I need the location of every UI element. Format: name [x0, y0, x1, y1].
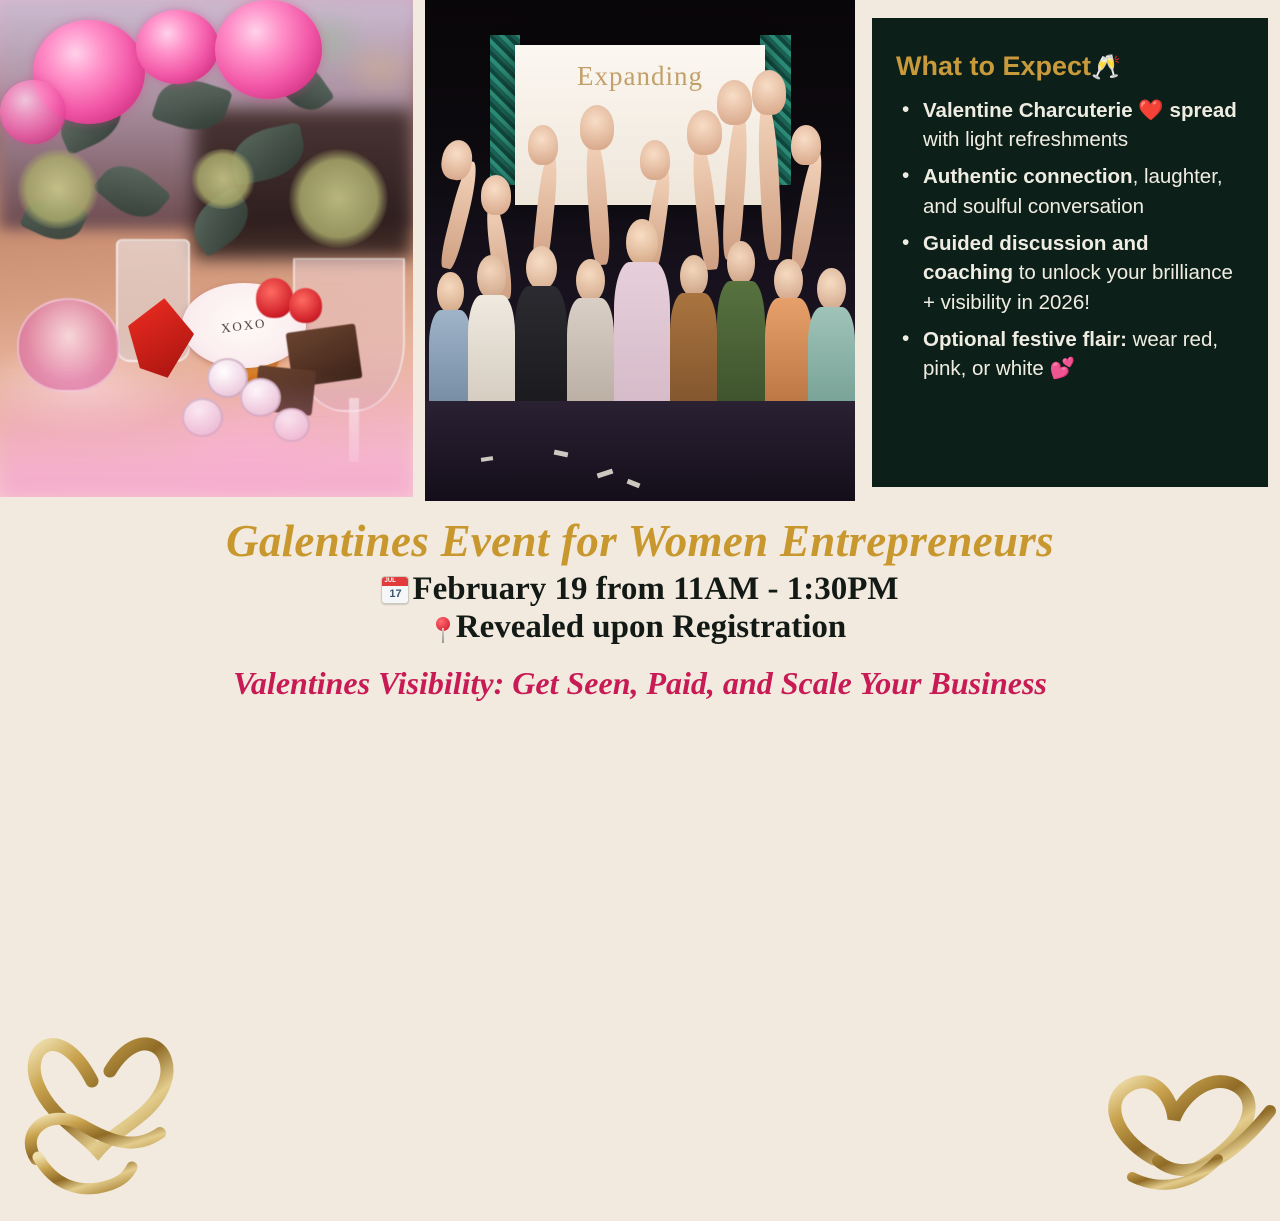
raised-hand [481, 175, 511, 215]
attendee-head [817, 268, 845, 310]
attendee-head [727, 241, 755, 285]
ribbon-heart-loop [1115, 1082, 1249, 1169]
list-item: Authentic connection, laughter, and soul… [896, 162, 1242, 221]
attendee-head [526, 246, 557, 290]
xoxo-plate-text: XOXO [220, 315, 267, 336]
raised-hand [752, 70, 786, 115]
stage-banner-text: Expanding [577, 61, 703, 92]
list-item-rest: with light refreshments [923, 128, 1128, 151]
ribbon-tail [1132, 1159, 1218, 1185]
seeded-sprig [17, 149, 100, 229]
gold-ribbon-heart-right [1092, 1041, 1280, 1221]
stage-floor [425, 401, 855, 501]
tagline: Valentines Visibility: Get Seen, Paid, a… [0, 665, 1280, 702]
ribbon-swirl [1158, 1111, 1270, 1170]
attendee-head [774, 259, 802, 302]
footer-block: Galentines Event for Women Entrepreneurs… [0, 501, 1280, 720]
event-location-text: Revealed upon Registration [456, 609, 847, 645]
strawberry [256, 278, 293, 318]
seeded-sprig [190, 149, 256, 209]
expectations-list: Valentine Charcuterie ❤️ spread with lig… [896, 96, 1242, 384]
list-item: Guided discussion and coaching to unlock… [896, 229, 1242, 318]
photo-group-celebration: Expanding [425, 0, 855, 501]
pink-rose [136, 10, 219, 85]
champagne-glasses-icon: 🥂 [1091, 54, 1121, 81]
pin-icon [434, 617, 452, 643]
calendar-month: JUL [382, 577, 408, 586]
pin-icon-needle [442, 628, 444, 643]
ribbon-heart-loop [34, 1044, 167, 1151]
attendee-head [576, 259, 604, 302]
event-date-line: JUL 17 February 19 from 11AM - 1:30PM [0, 571, 1280, 608]
raised-hand [580, 105, 614, 150]
strawberry [289, 288, 322, 323]
gold-ribbon-heart-left [14, 1009, 204, 1209]
pink-rose [0, 80, 66, 145]
photo-foreground-blur [0, 378, 413, 497]
panel-title: What to Expect🥂 [896, 52, 1242, 82]
pink-rose [215, 0, 322, 99]
list-item-bold: Authentic connection [923, 165, 1133, 188]
list-item: Optional festive flair: wear red, pink, … [896, 325, 1242, 384]
attendee-speaker [614, 219, 670, 431]
what-to-expect-panel: What to Expect🥂 Valentine Charcuterie ❤️… [872, 18, 1268, 487]
event-date-text: February 19 from 11AM - 1:30PM [412, 571, 898, 607]
raised-hand [717, 80, 751, 125]
ribbon-swirl [31, 1119, 160, 1159]
page-title: Galentines Event for Women Entrepreneurs [0, 515, 1280, 567]
flyer-canvas: XOXO Expanding [0, 0, 1280, 720]
ribbon-tail [38, 1157, 132, 1189]
raised-hand [528, 125, 558, 165]
seeded-sprig [289, 149, 388, 248]
attendee-head [626, 219, 657, 266]
calendar-day: 17 [382, 586, 408, 603]
list-item: Valentine Charcuterie ❤️ spread with lig… [896, 96, 1242, 155]
list-item-bold: Valentine Charcuterie ❤️ spread [923, 99, 1237, 122]
crowd-group [425, 210, 855, 430]
attendee-head [680, 255, 708, 297]
raised-hand [791, 125, 821, 165]
photo-charcuterie-table: XOXO [0, 0, 413, 497]
list-item-bold: Optional festive flair: [923, 328, 1127, 351]
attendee-head [437, 272, 464, 313]
event-location-line: Revealed upon Registration [0, 609, 1280, 646]
attendee-head [477, 255, 506, 299]
calendar-icon: JUL 17 [381, 576, 409, 604]
raised-hand [640, 140, 670, 180]
panel-title-text: What to Expect [896, 51, 1091, 81]
raised-hand [687, 110, 721, 155]
